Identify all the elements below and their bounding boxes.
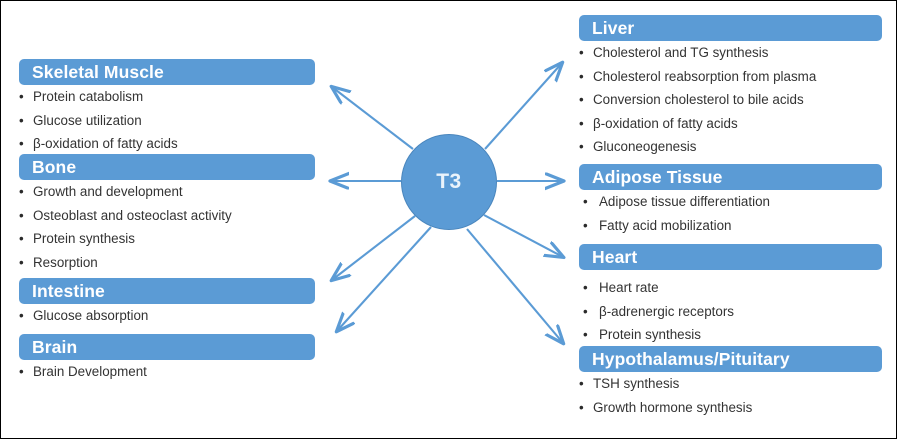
list-item-label: Protein synthesis — [33, 231, 135, 246]
list-item-label: Growth and development — [33, 184, 183, 199]
organ-block-brain: Brain •Brain Development — [19, 334, 315, 384]
list-item-label: Heart rate — [599, 280, 659, 295]
list-item: •Cholesterol and TG synthesis — [579, 41, 882, 65]
list-item: •Growth hormone synthesis — [579, 396, 882, 420]
organ-block-skeletal-muscle: Skeletal Muscle •Protein catabolism •Glu… — [19, 59, 315, 156]
bullet-icon: • — [579, 396, 591, 420]
list-item: •Growth and development — [19, 180, 315, 204]
bullet-icon: • — [579, 372, 591, 396]
organ-list-hypothalamus-pituitary: •TSH synthesis •Growth hormone synthesis — [579, 372, 882, 419]
bullet-icon: • — [579, 112, 591, 136]
list-item: •TSH synthesis — [579, 372, 882, 396]
organ-list-heart: •Heart rate •β-adrenergic receptors •Pro… — [579, 276, 882, 347]
list-item-label: Conversion cholesterol to bile acids — [593, 92, 804, 107]
list-item: •Protein synthesis — [19, 227, 315, 251]
list-item: •β-adrenergic receptors — [579, 300, 882, 324]
list-item: •Adipose tissue differentiation — [579, 190, 882, 214]
bullet-icon: • — [19, 109, 31, 133]
list-item-label: Cholesterol reabsorption from plasma — [593, 69, 816, 84]
arrow-to-brain — [337, 227, 431, 331]
organ-block-liver: Liver •Cholesterol and TG synthesis •Cho… — [579, 15, 882, 159]
t3-center-node: T3 — [401, 134, 497, 230]
list-item: •β-oxidation of fatty acids — [579, 112, 882, 136]
organ-header-hypothalamus-pituitary: Hypothalamus/Pituitary — [579, 346, 882, 372]
bullet-icon: • — [19, 251, 31, 275]
organ-list-intestine: •Glucose absorption — [19, 304, 315, 328]
list-item-label: Osteoblast and osteoclast activity — [33, 208, 232, 223]
bullet-icon: • — [19, 85, 31, 109]
list-item-label: Resorption — [33, 255, 98, 270]
t3-label: T3 — [436, 170, 462, 194]
bullet-icon: • — [583, 190, 595, 214]
list-item-label: TSH synthesis — [593, 376, 679, 391]
bullet-icon: • — [19, 204, 31, 228]
arrow-to-hypothalamus-pituitary — [467, 229, 563, 343]
list-item-label: Adipose tissue differentiation — [599, 194, 770, 209]
organ-block-heart: Heart •Heart rate •β-adrenergic receptor… — [579, 244, 882, 347]
organ-block-bone: Bone •Growth and development •Osteoblast… — [19, 154, 315, 274]
bullet-icon: • — [19, 180, 31, 204]
list-item-label: Gluconeogenesis — [593, 139, 696, 154]
list-item: •Osteoblast and osteoclast activity — [19, 204, 315, 228]
bullet-icon: • — [583, 214, 595, 238]
organ-header-intestine: Intestine — [19, 278, 315, 304]
list-item-label: β-adrenergic receptors — [599, 304, 734, 319]
bullet-icon: • — [19, 304, 31, 328]
bullet-icon: • — [583, 276, 595, 300]
list-item-label: Brain Development — [33, 364, 147, 379]
organ-header-brain: Brain — [19, 334, 315, 360]
arrow-to-liver — [485, 63, 562, 149]
organ-list-skeletal-muscle: •Protein catabolism •Glucose utilization… — [19, 85, 315, 156]
organ-list-bone: •Growth and development •Osteoblast and … — [19, 180, 315, 274]
list-item: •Conversion cholesterol to bile acids — [579, 88, 882, 112]
list-item: •Cholesterol reabsorption from plasma — [579, 65, 882, 89]
list-item: •Fatty acid mobilization — [579, 214, 882, 238]
list-item: •β-oxidation of fatty acids — [19, 132, 315, 156]
arrow-to-skeletal-muscle — [332, 87, 413, 149]
organ-block-hypothalamus-pituitary: Hypothalamus/Pituitary •TSH synthesis •G… — [579, 346, 882, 419]
organ-header-heart: Heart — [579, 244, 882, 270]
organ-list-liver: •Cholesterol and TG synthesis •Cholester… — [579, 41, 882, 159]
organ-block-intestine: Intestine •Glucose absorption — [19, 278, 315, 328]
bullet-icon: • — [19, 360, 31, 384]
list-item-label: Fatty acid mobilization — [599, 218, 731, 233]
list-item-label: β-oxidation of fatty acids — [593, 116, 738, 131]
list-item: •Brain Development — [19, 360, 315, 384]
bullet-icon: • — [579, 65, 591, 89]
organ-list-adipose-tissue: •Adipose tissue differentiation •Fatty a… — [579, 190, 882, 237]
list-item: •Glucose utilization — [19, 109, 315, 133]
list-item: •Heart rate — [579, 276, 882, 300]
list-item: •Glucose absorption — [19, 304, 315, 328]
list-item-label: Cholesterol and TG synthesis — [593, 45, 768, 60]
bullet-icon: • — [579, 41, 591, 65]
organ-header-liver: Liver — [579, 15, 882, 41]
organ-block-adipose-tissue: Adipose Tissue •Adipose tissue different… — [579, 164, 882, 237]
bullet-icon: • — [579, 135, 591, 159]
arrow-to-intestine — [332, 216, 415, 280]
bullet-icon: • — [583, 323, 595, 347]
organ-header-adipose-tissue: Adipose Tissue — [579, 164, 882, 190]
bullet-icon: • — [583, 300, 595, 324]
list-item-label: Glucose utilization — [33, 113, 142, 128]
list-item-label: Protein catabolism — [33, 89, 143, 104]
list-item: •Resorption — [19, 251, 315, 275]
list-item: •Protein catabolism — [19, 85, 315, 109]
arrow-to-heart — [484, 215, 563, 257]
organ-header-skeletal-muscle: Skeletal Muscle — [19, 59, 315, 85]
list-item-label: β-oxidation of fatty acids — [33, 136, 178, 151]
bullet-icon: • — [19, 227, 31, 251]
bullet-icon: • — [19, 132, 31, 156]
bullet-icon: • — [579, 88, 591, 112]
organ-list-brain: •Brain Development — [19, 360, 315, 384]
list-item-label: Glucose absorption — [33, 308, 148, 323]
list-item-label: Growth hormone synthesis — [593, 400, 752, 415]
organ-header-bone: Bone — [19, 154, 315, 180]
list-item: •Gluconeogenesis — [579, 135, 882, 159]
list-item: •Protein synthesis — [579, 323, 882, 347]
diagram-canvas: T3 Skeletal Muscle •Protein catabolism •… — [0, 0, 897, 439]
list-item-label: Protein synthesis — [599, 327, 701, 342]
